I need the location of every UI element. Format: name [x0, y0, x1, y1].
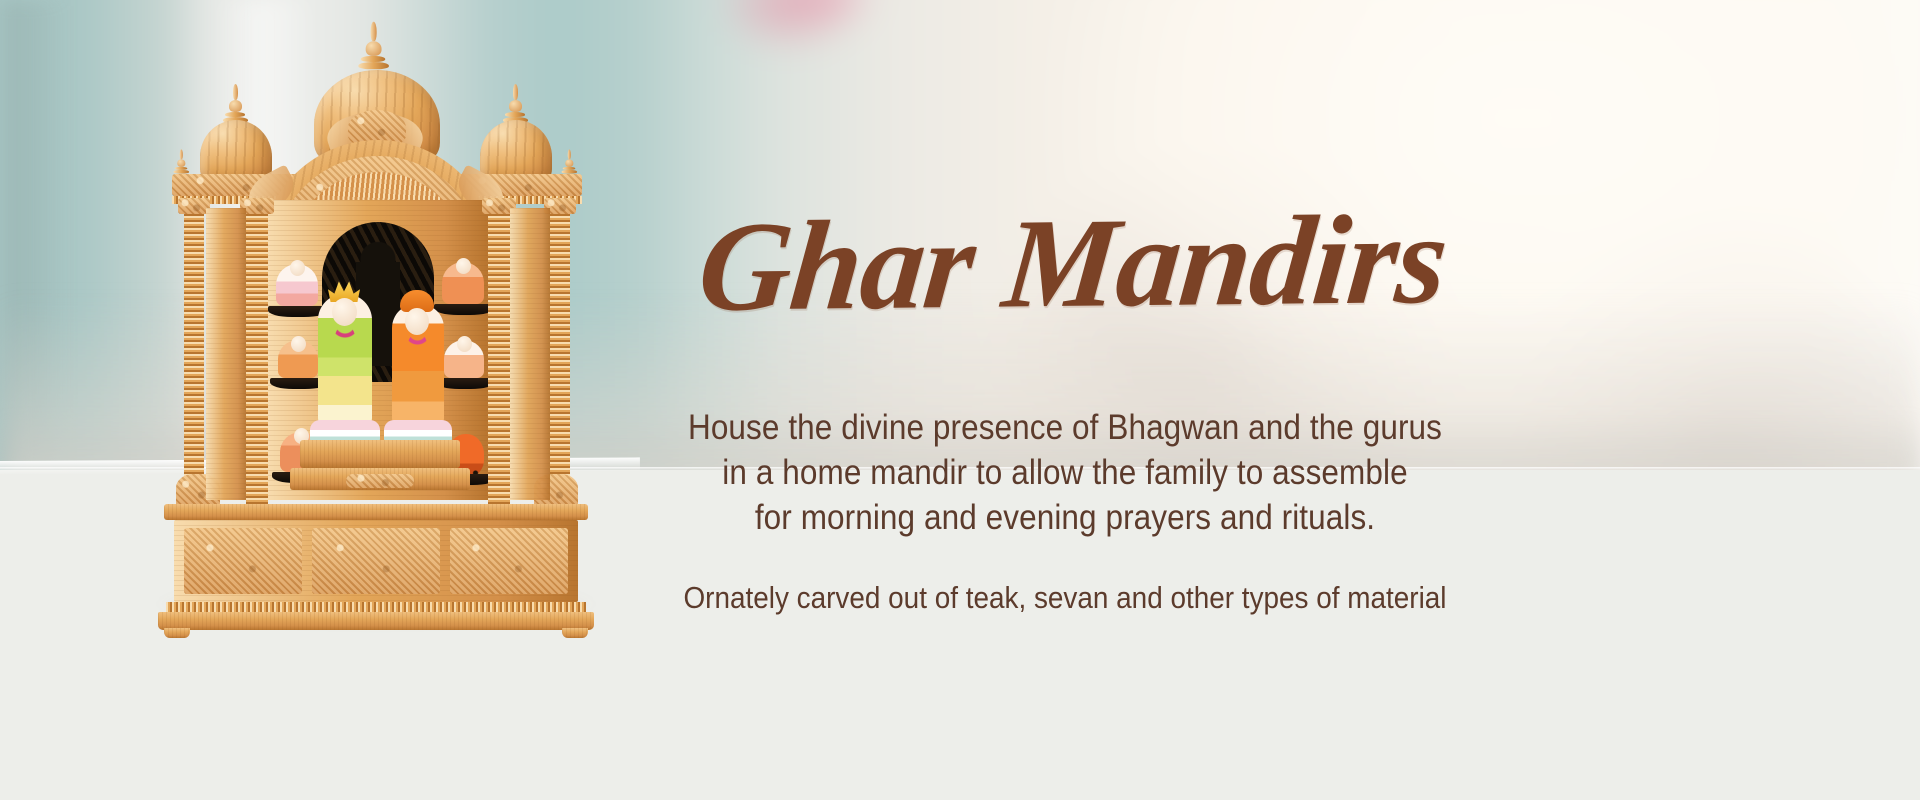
- shelf-middle-right: [436, 378, 494, 389]
- left-dome: [200, 120, 272, 182]
- foot-right: [562, 628, 588, 638]
- far-left-finial: [173, 149, 189, 173]
- ghar-mandirs-banner: Ghar Mandirs House the divine presence o…: [0, 0, 1920, 800]
- murti-bhagwan-pedestal: [310, 420, 380, 442]
- material-tagline: Ornately carved out of teak, sevan and o…: [638, 578, 1493, 618]
- base-bead-moulding: [166, 602, 586, 612]
- side-niche-right: [510, 208, 550, 500]
- guru-head-upper-right: [456, 258, 471, 274]
- guru-head-middle-right: [457, 336, 472, 352]
- murti-bhagwan-garland: [333, 324, 357, 372]
- page-title: Ghar Mandirs: [693, 192, 1427, 335]
- guru-head-middle-left: [291, 336, 306, 352]
- murti-swami-garland: [406, 332, 429, 378]
- murti-bhagwan-face: [332, 298, 357, 326]
- pillar-inner-right: [488, 204, 510, 504]
- pillar-outer-left: [184, 204, 204, 504]
- description-line-3: for morning and evening prayers and ritu…: [647, 495, 1484, 540]
- far-right-finial: [561, 149, 577, 173]
- drawer-center: [312, 528, 440, 594]
- side-niche-left: [206, 208, 246, 500]
- base-top-moulding: [164, 504, 588, 520]
- drawer-left: [184, 528, 302, 594]
- description-line-1: House the divine presence of Bhagwan and…: [647, 405, 1484, 450]
- pillar-outer-right: [550, 204, 570, 504]
- murti-swami-pedestal: [384, 420, 452, 442]
- description-line-2: in a home mandir to allow the family to …: [647, 450, 1484, 495]
- right-dome: [480, 120, 552, 182]
- foot-left: [164, 628, 190, 638]
- sinhasan-floral-motif: [346, 474, 414, 488]
- description-block: House the divine presence of Bhagwan and…: [600, 405, 1530, 540]
- guru-head-upper-left: [290, 260, 305, 276]
- center-dome-spire: [357, 22, 389, 70]
- ghar-mandir-illustration: [150, 22, 600, 632]
- murti-swami-face: [405, 308, 429, 335]
- pillar-inner-left: [246, 204, 268, 504]
- right-dome-spire: [502, 84, 528, 123]
- left-dome-spire: [222, 84, 248, 123]
- sinhasan-platform: [300, 440, 460, 468]
- base-plinth: [158, 612, 594, 630]
- shelf-upper-right: [434, 304, 494, 315]
- drawer-right: [450, 528, 568, 594]
